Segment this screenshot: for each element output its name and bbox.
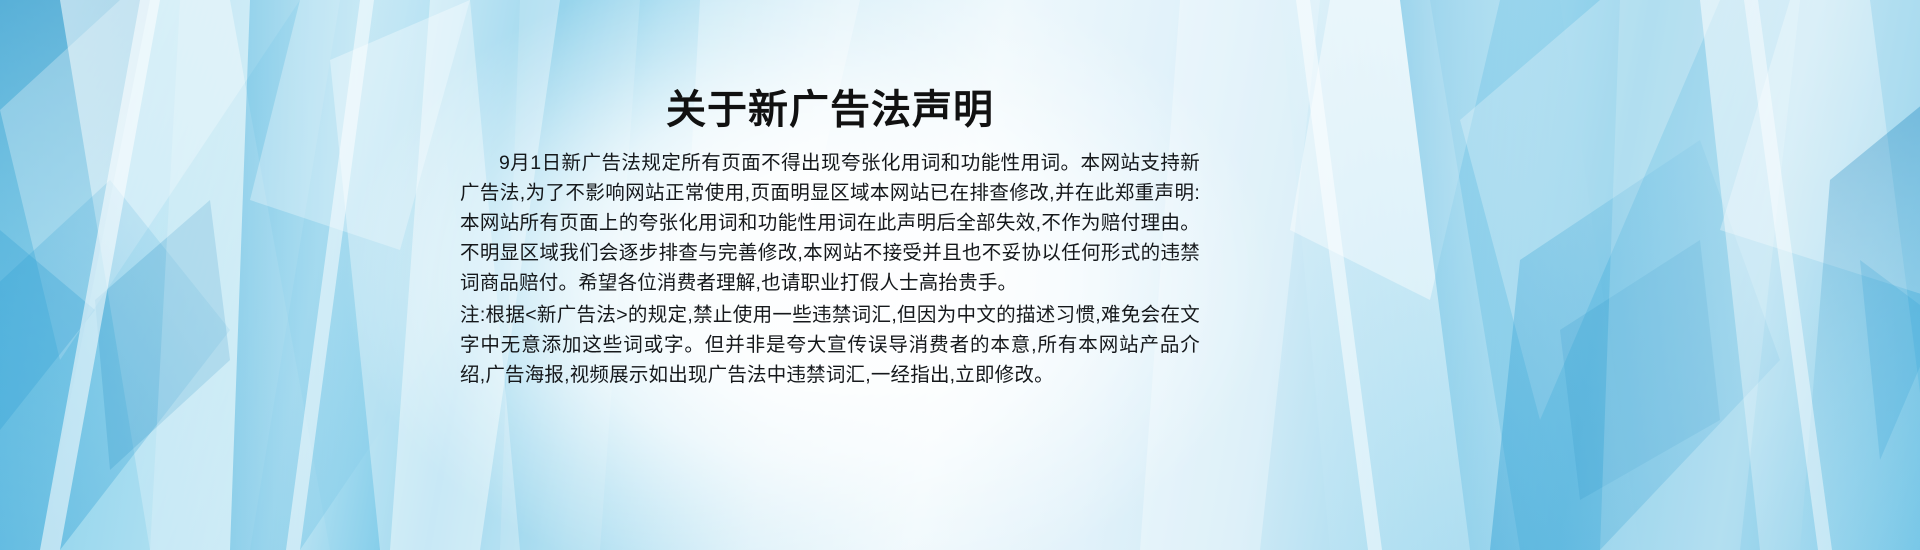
advertising-law-statement-banner: 关于新广告法声明 9月1日新广告法规定所有页面不得出现夸张化用词和功能性用词。本… [0, 0, 1920, 550]
statement-paragraph-1: 9月1日新广告法规定所有页面不得出现夸张化用词和功能性用词。本网站支持新广告法,… [460, 148, 1200, 298]
page-title: 关于新广告法声明 [460, 86, 1200, 134]
statement-paragraph-2: 注:根据<新广告法>的规定,禁止使用一些违禁词汇,但因为中文的描述习惯,难免会在… [460, 300, 1200, 390]
statement-body: 9月1日新广告法规定所有页面不得出现夸张化用词和功能性用词。本网站支持新广告法,… [460, 148, 1200, 390]
statement-content: 关于新广告法声明 9月1日新广告法规定所有页面不得出现夸张化用词和功能性用词。本… [0, 0, 1920, 550]
